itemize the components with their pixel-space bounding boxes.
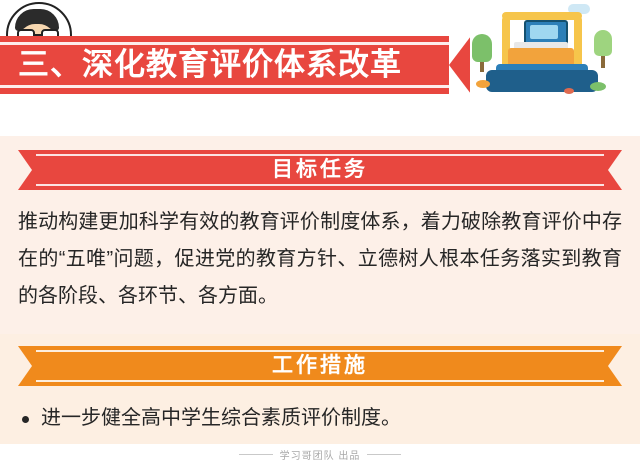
footer-divider-left (239, 454, 273, 455)
list-item: 进一步健全高中学生综合素质评价制度。 (18, 402, 622, 434)
section-heading-measures: 工作措施 (18, 346, 622, 386)
page-title: 三、深化教育评价体系改革 (18, 36, 402, 94)
bush-green (590, 82, 606, 91)
section-heading-ribbon-target: 目标任务 (18, 150, 622, 190)
section-work-measures: 工作措施 进一步健全高中学生综合素质评价制度。 (0, 334, 640, 444)
section-heading-ribbon-measures: 工作措施 (18, 346, 622, 386)
platform-base (486, 70, 598, 92)
tree-left-icon (472, 34, 492, 62)
bush-red (564, 88, 574, 94)
arch-right-pillar (574, 16, 582, 68)
screen-inner (530, 25, 558, 39)
section-paragraph-target: 推动构建更加科学有效的教育评价制度体系，着力破除教育评价中存在的“五唯”问题，促… (18, 204, 622, 315)
footer-credit: 学习哥团队 出品 (280, 447, 361, 462)
education-illustration-icon (468, 4, 618, 116)
bullet-text: 进一步健全高中学生综合素质评价制度。 (41, 402, 401, 434)
footer: 学习哥团队 出品 (0, 444, 640, 464)
bush-orange (476, 80, 490, 88)
header-band: 三、深化教育评价体系改革 (0, 0, 640, 120)
section-target-task: 目标任务 推动构建更加科学有效的教育评价制度体系，着力破除教育评价中存在的“五唯… (0, 136, 640, 334)
tree-trunk-right (601, 54, 605, 68)
section-heading-target: 目标任务 (18, 150, 622, 190)
footer-divider-right (367, 454, 401, 455)
tree-right-icon (594, 30, 612, 56)
arch-top-bar (502, 12, 582, 20)
page-title-ribbon: 三、深化教育评价体系改革 (0, 36, 470, 94)
bullet-dot-icon (22, 416, 29, 423)
